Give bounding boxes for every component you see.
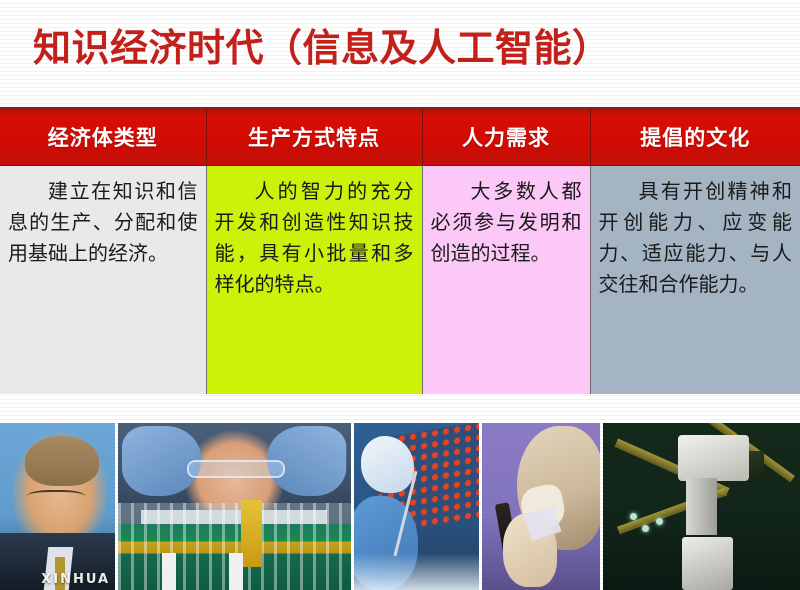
indicator-led-shape <box>642 525 649 532</box>
table-header-production-mode: 生产方式特点 <box>206 109 422 165</box>
indicator-led-shape <box>656 518 663 525</box>
cell-production-mode: 人的智力的充分开发和创造性知识技能，具有小批量和多样化的特点。 <box>206 165 422 394</box>
cell-labor-demand: 大多数人都必须参与发明和创造的过程。 <box>422 165 590 394</box>
table-header-economy-type: 经济体类型 <box>0 109 206 165</box>
photo-strip: XINHUA <box>0 423 800 590</box>
table-row: 建立在知识和信息的生产、分配和使用基础上的经济。 人的智力的充分开发和创造性知识… <box>0 165 800 394</box>
comparison-table: 经济体类型 生产方式特点 人力需求 提倡的文化 建立在知识和信息的生产、分配和使… <box>0 107 800 394</box>
photo-robotic-arm-manipulator <box>603 423 800 590</box>
robot-arm-base-shape <box>682 537 733 590</box>
gloved-hand-shape <box>361 436 414 493</box>
white-tube-shape <box>229 553 243 590</box>
table-header-promoted-culture: 提倡的文化 <box>590 109 800 165</box>
page-title: 知识经济时代（信息及人工智能） <box>33 22 611 74</box>
white-tube-shape <box>162 553 176 590</box>
photo-bill-gates-portrait: XINHUA <box>0 423 115 590</box>
goggles-shape <box>187 460 285 478</box>
cell-promoted-culture: 具有开创精神和开创能力、应变能力、适应能力、与人交往和合作能力。 <box>590 165 800 394</box>
hair-shape <box>25 436 98 486</box>
vapor-mist-shape <box>354 553 480 590</box>
cell-economy-type: 建立在知识和信息的生产、分配和使用基础上的经济。 <box>0 165 206 394</box>
table: 经济体类型 生产方式特点 人力需求 提倡的文化 建立在知识和信息的生产、分配和使… <box>0 109 800 394</box>
yellow-tube-shape <box>241 500 262 567</box>
photo-gloved-hands-blood-sample-tray <box>354 423 480 590</box>
glasses-shape <box>27 490 84 505</box>
xinhua-watermark: XINHUA <box>41 572 110 587</box>
photo-cleanroom-technician-wafer <box>482 423 600 590</box>
table-header-row: 经济体类型 生产方式特点 人力需求 提倡的文化 <box>0 109 800 165</box>
title-area: 知识经济时代（信息及人工智能） <box>0 22 800 84</box>
slide-canvas: 知识经济时代（信息及人工智能） 经济体类型 生产方式特点 人力需求 提倡的文化 … <box>0 0 800 590</box>
table-header-labor-demand: 人力需求 <box>422 109 590 165</box>
photo-scientist-with-test-tubes <box>118 423 351 590</box>
robot-arm-head-shape <box>678 435 749 482</box>
robot-arm-joint-shape <box>686 478 718 535</box>
